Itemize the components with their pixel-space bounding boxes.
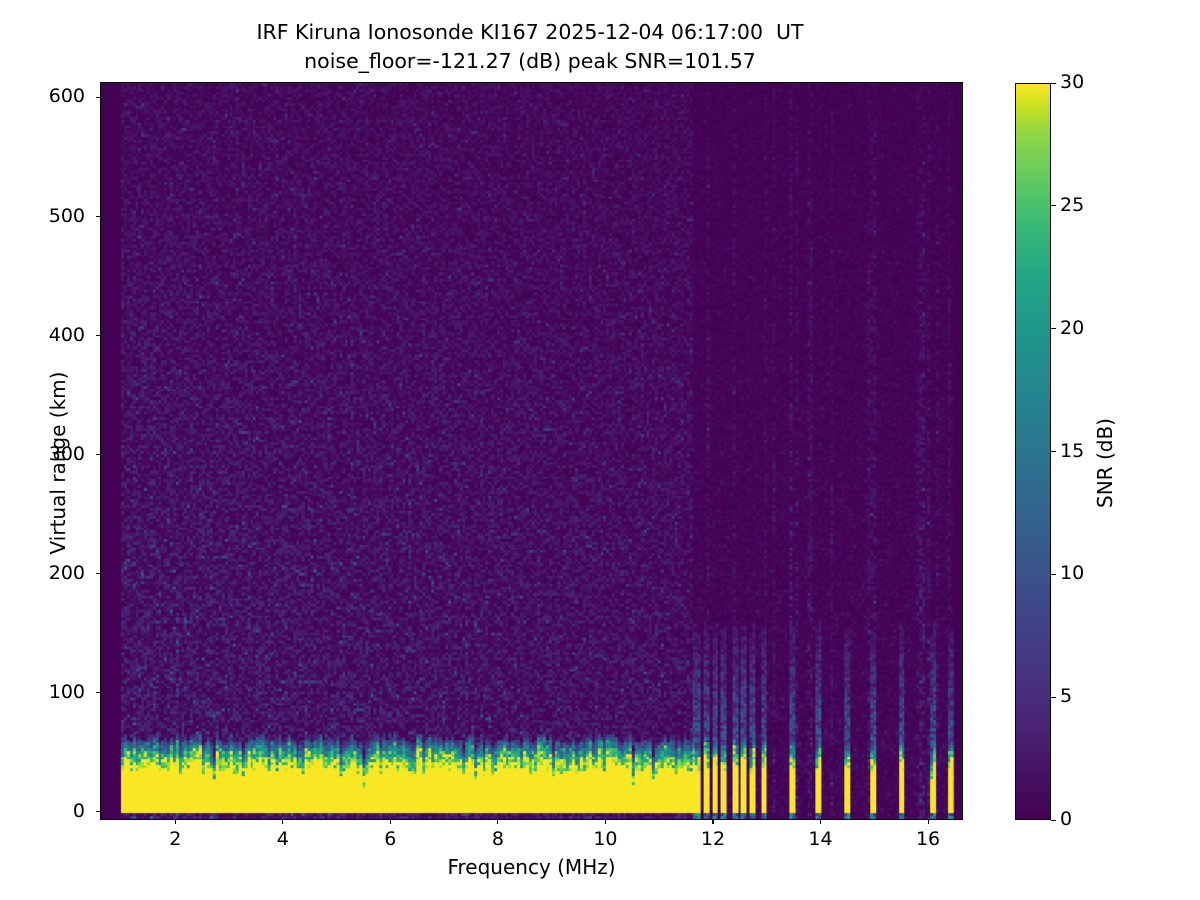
x-tick-label: 10 <box>570 828 640 850</box>
x-tick-label: 4 <box>248 828 318 850</box>
x-tick-mark <box>390 820 391 824</box>
x-tick-mark <box>820 820 821 824</box>
y-tick-label: 100 <box>25 681 85 703</box>
x-tick-mark <box>605 820 606 824</box>
plot-area[interactable] <box>100 82 963 820</box>
x-tick-label: 8 <box>463 828 533 850</box>
chart-title: IRF Kiruna Ionosonde KI167 2025-12-04 06… <box>0 18 1060 76</box>
y-tick-label: 500 <box>25 205 85 227</box>
colorbar-tick-label: 0 <box>1060 808 1110 830</box>
x-axis-label: Frequency (MHz) <box>100 855 963 879</box>
x-tick-mark <box>497 820 498 824</box>
x-tick-label: 2 <box>140 828 210 850</box>
colorbar-tick-label: 30 <box>1060 71 1110 93</box>
x-tick-label: 6 <box>355 828 425 850</box>
ionogram-figure: IRF Kiruna Ionosonde KI167 2025-12-04 06… <box>0 0 1200 900</box>
y-tick-mark <box>96 811 100 812</box>
colorbar-tick-label: 5 <box>1060 685 1110 707</box>
colorbar-tick-mark <box>1051 328 1056 329</box>
colorbar-tick-label: 25 <box>1060 194 1110 216</box>
y-tick-label: 0 <box>25 800 85 822</box>
x-tick-mark <box>175 820 176 824</box>
colorbar-tick-mark <box>1051 574 1056 575</box>
x-tick-mark <box>282 820 283 824</box>
x-tick-mark <box>928 820 929 824</box>
colorbar-tick-mark <box>1051 83 1056 84</box>
colorbar[interactable] <box>1015 83 1051 820</box>
x-tick-label: 16 <box>893 828 963 850</box>
ionogram-heatmap <box>101 83 962 819</box>
y-tick-label: 600 <box>25 85 85 107</box>
y-tick-mark <box>96 335 100 336</box>
y-tick-mark <box>96 573 100 574</box>
x-tick-mark <box>712 820 713 824</box>
chart-title-line1: IRF Kiruna Ionosonde KI167 2025-12-04 06… <box>0 18 1060 47</box>
colorbar-tick-mark <box>1051 820 1056 821</box>
colorbar-tick-mark <box>1051 205 1056 206</box>
y-tick-mark <box>96 97 100 98</box>
y-tick-mark <box>96 692 100 693</box>
x-tick-label: 14 <box>786 828 856 850</box>
colorbar-tick-mark <box>1051 697 1056 698</box>
y-tick-mark <box>96 454 100 455</box>
colorbar-label: SNR (dB) <box>1093 263 1117 663</box>
y-axis-label: Virtual range (km) <box>46 263 70 663</box>
y-tick-mark <box>96 216 100 217</box>
colorbar-tick-mark <box>1051 451 1056 452</box>
x-tick-label: 12 <box>678 828 748 850</box>
chart-title-line2: noise_floor=-121.27 (dB) peak SNR=101.57 <box>0 47 1060 76</box>
